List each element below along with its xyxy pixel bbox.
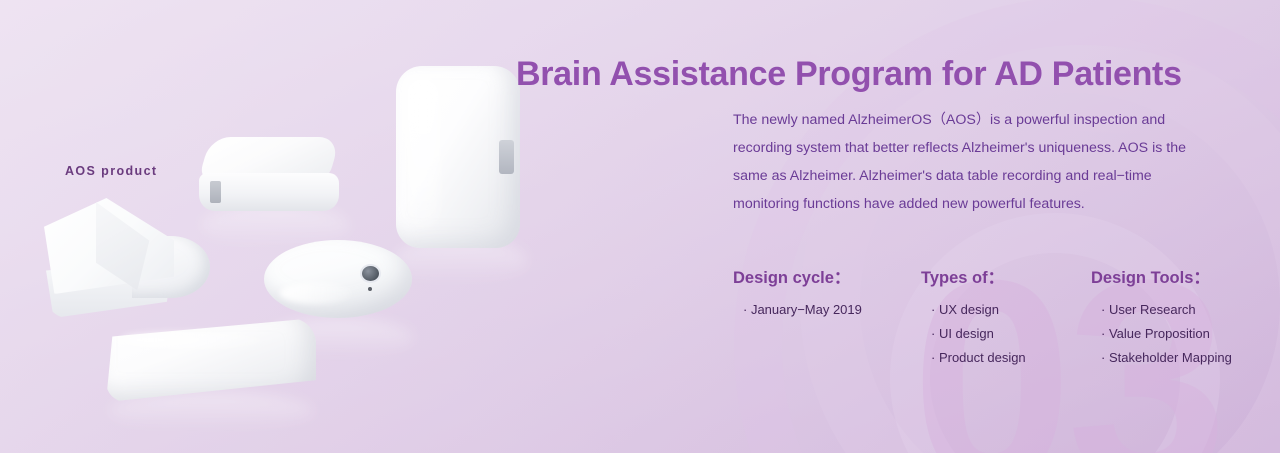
- bar-face: [106, 318, 316, 402]
- column-heading: Design Tools：: [1091, 264, 1232, 288]
- bar-highlight: [122, 332, 272, 348]
- tall-box-highlight: [406, 78, 440, 228]
- column-types-of: Types of： · UX design · UI design · Prod…: [921, 264, 1026, 370]
- column-list: · User Research · Value Proposition · St…: [1091, 298, 1232, 370]
- list-item: · Value Proposition: [1091, 322, 1232, 346]
- description-line: same as Alzheimer. Alzheimer's data tabl…: [733, 162, 1228, 190]
- column-list: · UX design · UI design · Product design: [921, 298, 1026, 370]
- list-item: · January−May 2019: [733, 298, 862, 322]
- product-clamshell-unit: [44, 198, 234, 328]
- puck-body: [264, 240, 412, 318]
- product-bar-unit: [106, 318, 316, 402]
- puck-camera-icon: [362, 266, 379, 281]
- tall-box-port: [499, 140, 514, 174]
- product-round-puck: [264, 240, 412, 328]
- puck-sensor-dot: [368, 287, 372, 291]
- list-item: · User Research: [1091, 298, 1232, 322]
- product-caption: AOS product: [65, 164, 157, 178]
- column-heading: Types of：: [921, 264, 1026, 288]
- list-item: · Stakeholder Mapping: [1091, 346, 1232, 370]
- description-line: The newly named AlzheimerOS（AOS）is a pow…: [733, 106, 1228, 134]
- product-tall-box: [396, 66, 520, 248]
- column-list: · January−May 2019: [733, 298, 862, 322]
- presentation-slide: 03: [0, 0, 1280, 453]
- list-item: · UI design: [921, 322, 1026, 346]
- description-line: recording system that better reflects Al…: [733, 134, 1228, 162]
- list-item: · Product design: [921, 346, 1026, 370]
- column-heading: Design cycle：: [733, 264, 862, 288]
- product-render-group: [0, 0, 520, 453]
- list-item: · UX design: [921, 298, 1026, 322]
- slide-description: The newly named AlzheimerOS（AOS）is a pow…: [733, 106, 1228, 218]
- description-line: monitoring functions have added new powe…: [733, 190, 1228, 218]
- meta-columns: Design cycle： · January−May 2019 Types o…: [733, 264, 1263, 374]
- column-design-cycle: Design cycle： · January−May 2019: [733, 264, 862, 322]
- slide-title: Brain Assistance Program for AD Patients: [516, 55, 1182, 94]
- column-design-tools: Design Tools： · User Research · Value Pr…: [1091, 264, 1232, 370]
- puck-highlight: [280, 282, 352, 304]
